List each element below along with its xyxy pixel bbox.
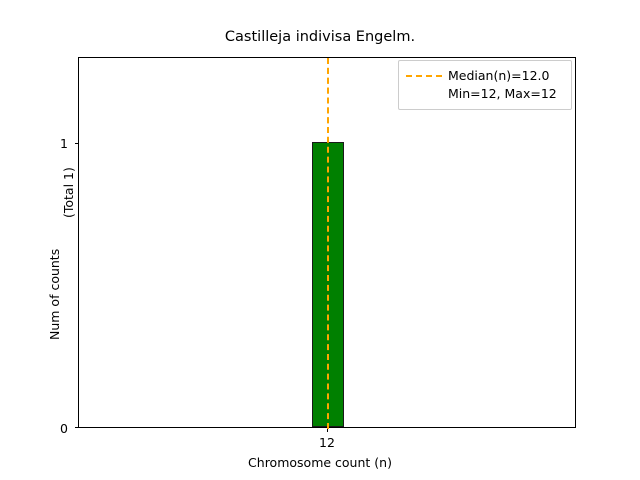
x-tick-label-12: 12: [297, 435, 357, 450]
y-axis-label-line1: Num of counts: [47, 249, 62, 340]
plot-area: [78, 57, 576, 428]
y-axis-label-line2: (Total 1): [61, 167, 76, 218]
dashed-line-icon: [406, 75, 442, 77]
y-tick-label-0: 0: [36, 421, 68, 436]
matplotlib-figure: Castilleja indivisa Engelm. Num of count…: [0, 0, 640, 480]
legend-text-cell: Median(n)=12.0 Min=12, Max=12: [448, 67, 564, 103]
legend: Median(n)=12.0 Min=12, Max=12: [398, 60, 572, 110]
median-line-overlay: [327, 58, 329, 429]
y-tick-label-1: 1: [36, 136, 68, 151]
legend-label-range: Min=12, Max=12: [448, 85, 564, 103]
x-axis-label: Chromosome count (n): [0, 455, 640, 470]
page-title: Castilleja indivisa Engelm.: [0, 29, 640, 46]
legend-item-median: Median(n)=12.0 Min=12, Max=12: [406, 67, 564, 103]
legend-swatch-cell: [406, 67, 448, 77]
legend-label-median: Median(n)=12.0: [448, 67, 564, 85]
